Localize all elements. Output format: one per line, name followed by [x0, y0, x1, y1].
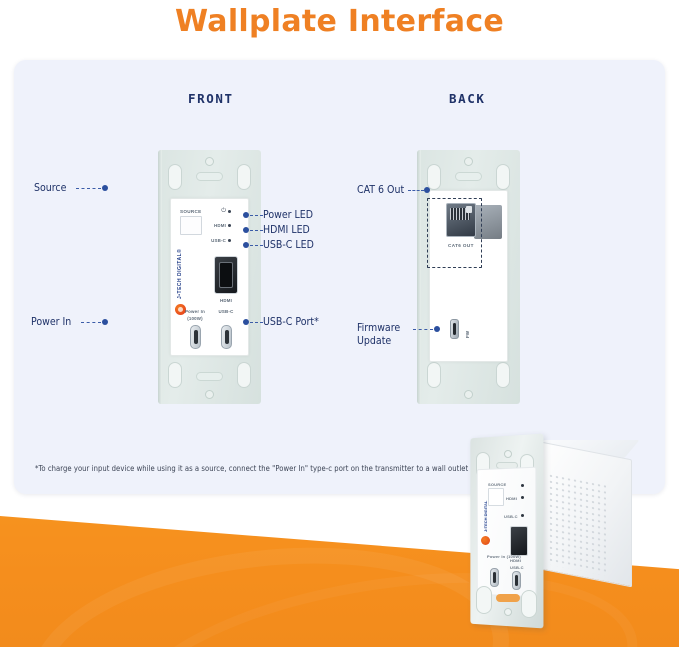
photo-source-button[interactable]: [488, 488, 504, 506]
lead-usbc-port: [250, 322, 263, 323]
photo-usbc-led: [521, 514, 524, 517]
product-photo-3d: SOURCE HDMI USB-C J•TECH DIGITAL HDMI Po…: [448, 428, 673, 633]
hdmi-led-row: HDMI: [209, 223, 231, 228]
lead-dot-usbc-port: [243, 319, 249, 325]
back-screw-hole-bottom: [464, 390, 473, 399]
power-symbol-icon: ⏻: [209, 208, 226, 214]
back-bracket-edge: [417, 150, 421, 404]
usbc-led-row: USB-C: [209, 238, 231, 243]
power-led-indicator: [228, 210, 231, 213]
lead-hdmi-led: [250, 230, 263, 231]
cat6-highlight-box: [427, 198, 482, 268]
source-button[interactable]: [180, 216, 202, 235]
hdmi-port[interactable]: [214, 256, 238, 294]
usbc-data-port[interactable]: [221, 325, 232, 349]
lead-firmware-update: [413, 329, 433, 330]
back-screw-slot-topright: [496, 164, 510, 190]
lead-cat6-out: [408, 190, 424, 191]
back-screw-hole-top: [464, 157, 473, 166]
front-screw-slot-topleft: [168, 164, 182, 190]
front-screw-hole-bottom: [205, 390, 214, 399]
callout-firmware-update: Firmware Update: [357, 322, 413, 347]
back-screw-slot-topleft: [427, 164, 441, 190]
page-title: Wallplate Interface: [0, 0, 679, 44]
photo-power-led: [521, 484, 524, 487]
power-led-row: ⏻: [209, 208, 231, 214]
hdmi-indicator-label: HDMI: [209, 223, 226, 228]
source-label: SOURCE: [180, 209, 201, 214]
front-faceplate: SOURCE ⏻ HDMI USB-C J•TECH DIGITAL®: [170, 198, 249, 356]
photo-slot-bottomright: [521, 590, 537, 618]
callout-hdmi-led: HDMI LED: [263, 224, 310, 236]
lead-dot-hdmi-led: [243, 227, 249, 233]
lead-dot-power-led: [243, 212, 249, 218]
photo-brand-logo-icon: [481, 536, 490, 545]
callout-usbc-led: USB-C LED: [263, 239, 314, 251]
lead-usbc-led: [250, 245, 263, 246]
photo-ventilation-holes: [548, 472, 606, 575]
fw-label: FW: [465, 331, 470, 338]
photo-pill-bottom-orange: [496, 594, 520, 602]
firmware-update-line1: Firmware: [357, 322, 400, 334]
callout-source: Source: [34, 182, 66, 194]
photo-usbc-port-label: USB-C: [510, 565, 524, 570]
callout-usbc-port: USB-C Port*: [263, 316, 319, 328]
photo-screw-hole-bottom: [504, 608, 512, 616]
hdmi-port-label: HDMI: [214, 298, 238, 303]
lead-source: [76, 188, 101, 189]
firmware-update-line2: Update: [357, 335, 391, 347]
photo-screw-hole-top: [504, 450, 512, 458]
lead-dot-source: [102, 185, 108, 191]
photo-brand-text: J•TECH DIGITAL: [483, 501, 488, 532]
lead-power-led: [250, 215, 263, 216]
photo-source-label: SOURCE: [488, 482, 506, 487]
callout-cat6-out: CAT 6 Out: [357, 184, 404, 196]
photo-hdmi-indicator-label: HDMI: [506, 496, 517, 501]
back-screw-slot-bottomright: [496, 362, 510, 388]
lead-dot-firmware-update: [434, 326, 440, 332]
photo-power-in-label: Power In (100W): [487, 554, 521, 559]
usbc-indicator-label: USB-C: [209, 238, 226, 243]
firmware-micro-usb-port[interactable]: [450, 319, 459, 339]
callout-power-in: Power In: [31, 316, 71, 328]
brand-text: J•TECH DIGITAL®: [177, 249, 183, 299]
lead-power-in: [81, 322, 101, 323]
back-screw-pill-top: [455, 172, 482, 181]
hdmi-led-indicator: [228, 224, 231, 227]
front-screw-slot-bottomleft: [168, 362, 182, 388]
lead-dot-power-in: [102, 319, 108, 325]
lead-dot-cat6-out: [424, 187, 430, 193]
photo-usbc-indicator-label: USB-C: [504, 514, 518, 519]
photo-usbc-port[interactable]: [512, 571, 521, 590]
front-screw-hole-top: [205, 157, 214, 166]
back-view-label: BACK: [449, 91, 486, 106]
power-in-label-line2: (100W): [181, 316, 209, 321]
power-in-usbc-port[interactable]: [190, 325, 201, 349]
footnote-text: *To charge your input device while using…: [35, 464, 468, 473]
front-screw-pill-bottom: [196, 372, 223, 381]
photo-hdmi-led: [521, 496, 524, 499]
front-view-label: FRONT: [188, 91, 234, 106]
front-wallplate: SOURCE ⏻ HDMI USB-C J•TECH DIGITAL®: [158, 150, 261, 404]
lead-dot-usbc-led: [243, 242, 249, 248]
front-bracket-edge: [158, 150, 162, 404]
photo-slot-bottomleft: [476, 586, 492, 614]
power-in-label-line1: Power In: [181, 309, 209, 314]
usbc-led-indicator: [228, 239, 231, 242]
callout-power-led: Power LED: [263, 209, 313, 221]
back-wallplate: CAT6 OUT FW: [417, 150, 520, 404]
back-screw-slot-bottomleft: [427, 362, 441, 388]
front-screw-pill-top: [196, 172, 223, 181]
wallplate-interface-page: Wallplate Interface FRONT BACK SOURCE: [0, 0, 679, 647]
photo-hdmi-port[interactable]: [510, 526, 528, 556]
photo-power-in-port[interactable]: [490, 568, 499, 587]
usbc-port-label: USB-C: [214, 309, 238, 314]
front-screw-slot-bottomright: [237, 362, 251, 388]
front-screw-slot-topright: [237, 164, 251, 190]
